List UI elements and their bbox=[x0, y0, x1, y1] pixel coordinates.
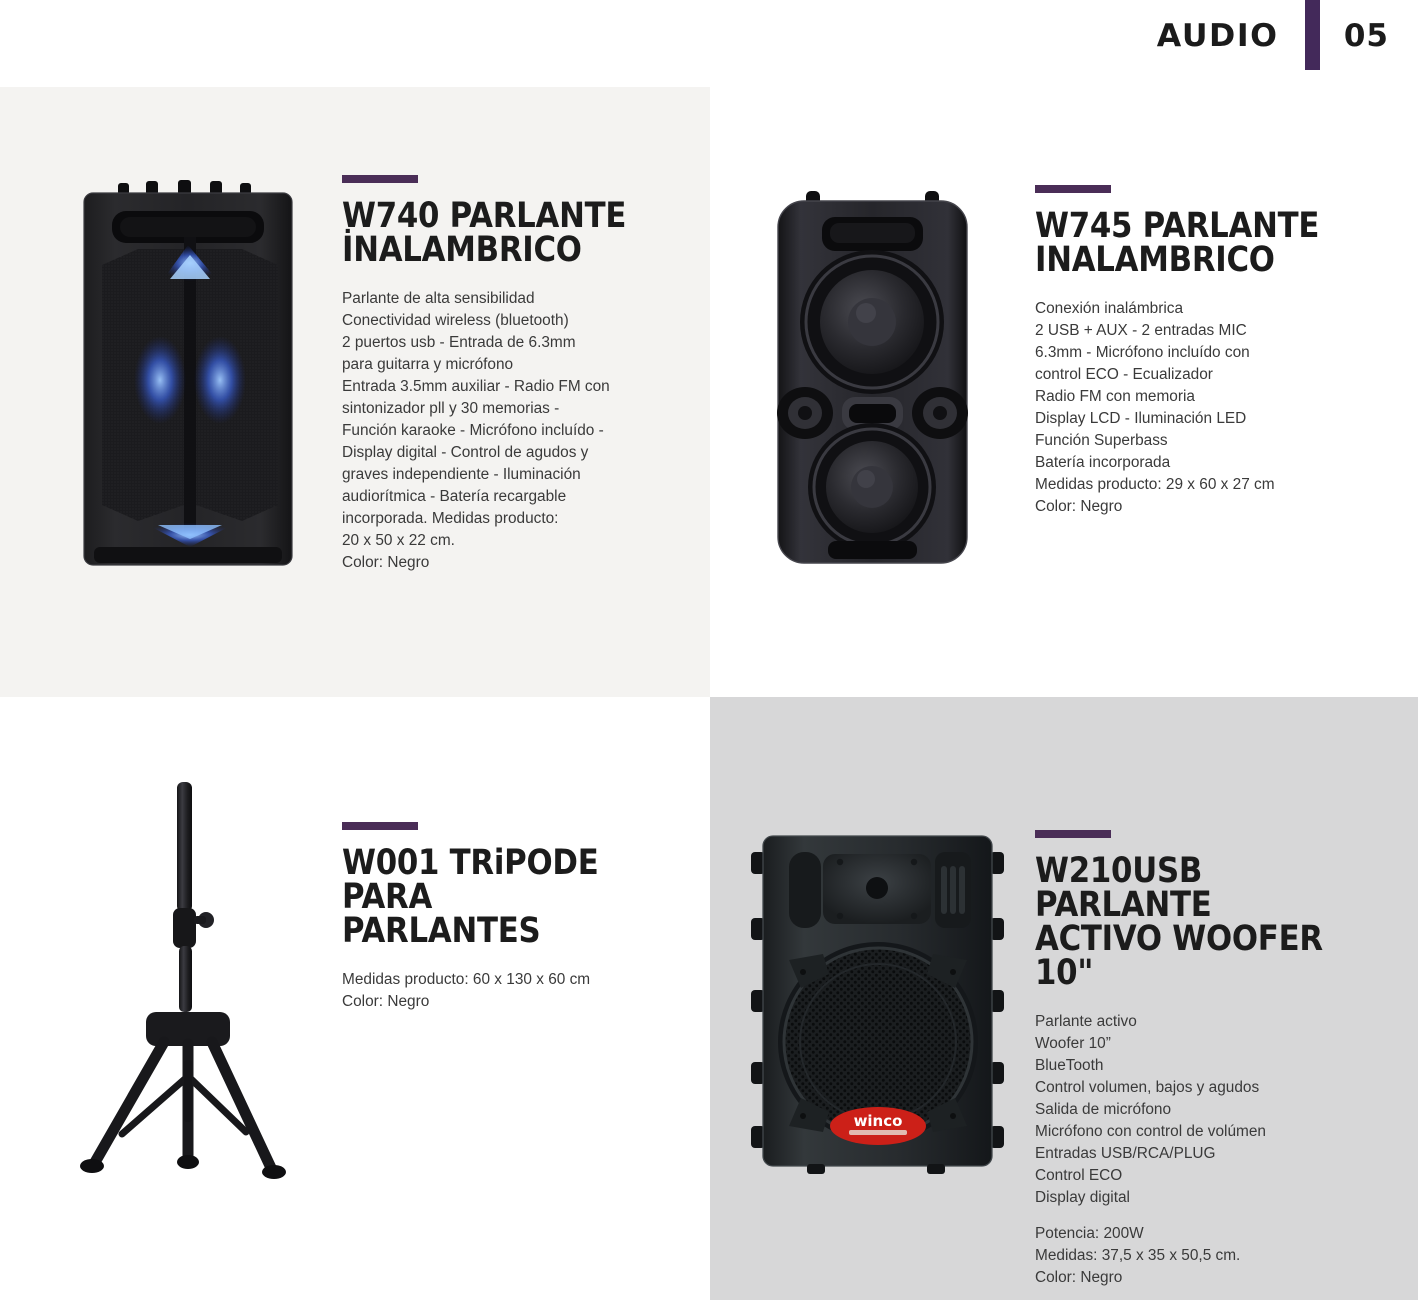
product-description: Parlante de alta sensibilidad Conectivid… bbox=[342, 288, 672, 574]
accent-bar bbox=[342, 822, 418, 830]
accent-bar bbox=[342, 175, 418, 183]
product-card-w210usb: winco W210USB PARLANTE ACTIVO WOOFER 10"… bbox=[745, 830, 1365, 1289]
product-title: W210USB PARLANTE ACTIVO WOOFER 10" bbox=[1035, 855, 1325, 991]
product-image-w001 bbox=[60, 760, 320, 1185]
product-info-w001: W001 TRiPODE PARA PARLANTES Medidas prod… bbox=[342, 822, 672, 1185]
brand-badge-label: winco bbox=[854, 1112, 903, 1130]
category-label: AUDIO bbox=[1156, 18, 1278, 54]
product-image-w210usb: winco bbox=[745, 830, 1010, 1180]
product-description: Conexión inalámbrica 2 USB + AUX - 2 ent… bbox=[1035, 298, 1365, 518]
page-header: AUDIO 05 bbox=[998, 0, 1418, 72]
product-image-w740 bbox=[60, 175, 320, 575]
product-description: Medidas producto: 60 x 130 x 60 cm Color… bbox=[342, 969, 672, 1013]
product-card-w740: W740 PARLANTE İNALAMBRICO Parlante de al… bbox=[60, 175, 672, 575]
page-number: 05 bbox=[1344, 18, 1389, 54]
product-info-w745: W745 PARLANTE INALAMBRICO Conexión inalá… bbox=[1035, 185, 1365, 575]
product-card-w745: W745 PARLANTE INALAMBRICO Conexión inalá… bbox=[760, 185, 1365, 575]
product-title: W740 PARLANTE İNALAMBRICO bbox=[342, 200, 632, 268]
accent-bar bbox=[1035, 830, 1111, 838]
product-title: W001 TRiPODE PARA PARLANTES bbox=[342, 847, 632, 949]
accent-bar bbox=[1035, 185, 1111, 193]
product-info-w740: W740 PARLANTE İNALAMBRICO Parlante de al… bbox=[342, 175, 672, 575]
product-info-w210usb: W210USB PARLANTE ACTIVO WOOFER 10" Parla… bbox=[1035, 830, 1365, 1289]
product-description: Parlante activo Woofer 10” BlueTooth Con… bbox=[1035, 1011, 1365, 1209]
active-speaker-cabinet-icon: winco bbox=[745, 830, 1010, 1180]
tower-speaker-blue-led-icon bbox=[60, 175, 320, 575]
speaker-tripod-stand-icon bbox=[60, 760, 320, 1185]
product-description-secondary: Potencia: 200W Medidas: 37,5 x 35 x 50,5… bbox=[1035, 1223, 1365, 1289]
product-image-w745 bbox=[760, 185, 985, 575]
product-card-w001: W001 TRiPODE PARA PARLANTES Medidas prod… bbox=[60, 760, 672, 1185]
dual-woofer-speaker-icon bbox=[760, 185, 985, 575]
header-divider bbox=[1305, 0, 1320, 70]
product-title: W745 PARLANTE INALAMBRICO bbox=[1035, 210, 1325, 278]
